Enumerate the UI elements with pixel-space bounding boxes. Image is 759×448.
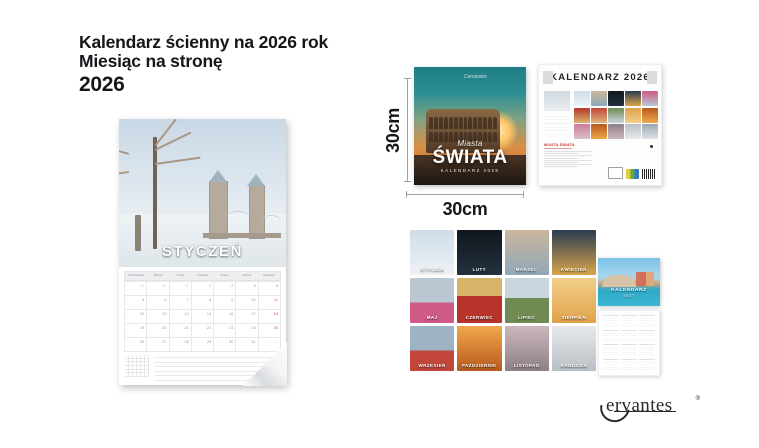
day-cell: 25 [259, 324, 281, 338]
month-card[interactable]: CZERWIEC [457, 278, 501, 323]
height-dimension: 30cm [383, 78, 404, 182]
back-panel-header: KALENDARZ 2026 [539, 71, 661, 84]
cervantes-logo: ervantes ® [592, 392, 716, 424]
month-card-label: MARZEC [505, 267, 549, 272]
tower-roof [209, 170, 227, 182]
punch-hole-icon [650, 145, 653, 148]
width-label: 30cm [406, 199, 524, 220]
weekday-label: Wtorek [147, 272, 169, 280]
height-ruler [407, 78, 408, 182]
next-year-year: 2027 [598, 293, 660, 298]
back-panel-sample-page [544, 91, 570, 137]
rialto-bridge [602, 275, 636, 287]
day-cells: 29 30 31 1 2 3 4 5 6 7 8 9 10 11 12 13 1… [124, 281, 281, 352]
tower-bridge [203, 171, 281, 237]
day-cell: 23 [214, 324, 236, 338]
month-card[interactable]: GRUDZIEŃ [552, 326, 596, 371]
day-cell: 2 [214, 282, 236, 296]
year-overview-page [598, 310, 660, 376]
month-card-label: MAJ [410, 315, 454, 320]
day-cell: 24 [236, 324, 258, 338]
month-card-label: KWIECIEŃ [552, 267, 596, 272]
january-photo: STYCZEŃ [119, 119, 286, 267]
month-card-label: GRUDZIEŃ [552, 363, 596, 368]
info-underline [544, 148, 572, 149]
height-label: 30cm [383, 108, 404, 153]
back-panel-thumbnails [574, 91, 658, 139]
colosseum-arches-upper [429, 117, 497, 129]
logo-underline [614, 411, 676, 412]
mini-month-grid [125, 355, 149, 377]
headline-line-2: Miesiąc na stronę [79, 52, 399, 71]
product-page: Kalendarz ścienny na 2026 rok Miesiąc na… [0, 0, 759, 448]
month-thumbnail-grid: STYCZEŃ LUTY MARZEC KWIECIEŃ MAJ CZERWIE… [410, 230, 596, 371]
month-card-label: LIPIEC [505, 315, 549, 320]
month-card[interactable]: MARZEC [505, 230, 549, 275]
day-cell: 30 [147, 282, 169, 296]
bridge-tower [249, 185, 265, 239]
month-card[interactable]: LUTY [457, 230, 501, 275]
day-cell: 13 [147, 310, 169, 324]
day-cell: 10 [236, 296, 258, 310]
day-cell: 7 [170, 296, 192, 310]
next-year-title: KALENDARZ [598, 287, 660, 292]
month-card-label: CZERWIEC [457, 315, 501, 320]
month-card[interactable]: KWIECIEŃ [552, 230, 596, 275]
headline-year: 2026 [79, 72, 399, 97]
day-cell: 22 [192, 324, 214, 338]
day-cell: 31 [170, 282, 192, 296]
tower-roof [247, 174, 265, 186]
day-cell: 28 [170, 338, 192, 352]
page-title: Kalendarz ścienny na 2026 rok Miesiąc na… [79, 33, 399, 97]
day-cell: 5 [125, 296, 147, 310]
day-cell: 21 [170, 324, 192, 338]
day-cell: 29 [125, 282, 147, 296]
month-card-label: PAŹDZIERNIK [457, 363, 501, 368]
cover-subtitle: KALENDARZ 2026 [414, 168, 526, 173]
weekday-label: Środa [169, 272, 191, 280]
day-cell: 1 [192, 282, 214, 296]
hanger-tab-left [543, 71, 553, 84]
month-card-label: SIERPIEŃ [552, 315, 596, 320]
day-cell: 29 [192, 338, 214, 352]
headline-line-1: Kalendarz ścienny na 2026 rok [79, 33, 399, 52]
day-cell: 9 [214, 296, 236, 310]
month-card[interactable]: WRZESIEŃ [410, 326, 454, 371]
month-card[interactable]: LISTOPAD [505, 326, 549, 371]
weekday-label: Sobota [236, 272, 258, 280]
barcode-icon [642, 169, 656, 179]
next-year-cover: KALENDARZ 2027 [598, 258, 660, 306]
day-cell: 18 [259, 310, 281, 324]
bridge-cable [261, 215, 281, 228]
recycling-icon [626, 169, 639, 179]
day-cell: 16 [214, 310, 236, 324]
day-cell: 3 [236, 282, 258, 296]
building [646, 272, 654, 286]
weekday-label: Niedziela [258, 272, 280, 280]
main-calendar-mockup: STYCZEŃ Poniedziałek Wtorek Środa Czwart… [119, 119, 286, 385]
month-card-label: LISTOPAD [505, 363, 549, 368]
logo-registered-mark: ® [696, 396, 700, 402]
day-cell: 19 [125, 324, 147, 338]
day-cell: 8 [192, 296, 214, 310]
cover-mockup: Cervantes Miasta ŚWIATA KALENDARZ 2026 [414, 67, 526, 185]
month-card[interactable]: LIPIEC [505, 278, 549, 323]
width-ruler [406, 194, 524, 195]
weekday-header-row: Poniedziałek Wtorek Środa Czwartek Piąte… [124, 271, 281, 281]
day-cell: 27 [147, 338, 169, 352]
month-card[interactable]: SIERPIEŃ [552, 278, 596, 323]
logo-name: ervantes [606, 395, 673, 417]
back-panel-mockup: KALENDARZ 2026 MIASTA ŚWIATA [538, 64, 662, 186]
day-cell: 30 [214, 338, 236, 352]
bridge-tower [209, 181, 228, 239]
back-panel-icons [608, 167, 656, 179]
day-cell: 26 [125, 338, 147, 352]
day-cell: 4 [259, 282, 281, 296]
fsc-icon [608, 167, 623, 179]
month-card-label: LUTY [457, 267, 501, 272]
tree-trunk [153, 137, 157, 249]
bridge-deck [203, 233, 281, 238]
hanger-tab-right [647, 71, 657, 84]
back-panel-info: MIASTA ŚWIATA [544, 143, 600, 169]
day-cell: 12 [125, 310, 147, 324]
day-cell: 6 [147, 296, 169, 310]
day-cell: 17 [236, 310, 258, 324]
sample-photo [544, 91, 570, 111]
bridge-cable [225, 211, 251, 226]
day-cell: 20 [147, 324, 169, 338]
width-dimension: 30cm [406, 194, 524, 220]
sample-grid [544, 113, 570, 135]
info-heading: MIASTA ŚWIATA [544, 143, 600, 147]
weekday-label: Poniedziałek [125, 272, 147, 280]
month-card-label: STYCZEŃ [410, 267, 454, 272]
month-card[interactable]: MAJ [410, 278, 454, 323]
month-card[interactable]: PAŹDZIERNIK [457, 326, 501, 371]
month-card-label: WRZESIEŃ [410, 363, 454, 368]
month-card[interactable]: STYCZEŃ [410, 230, 454, 275]
back-panel-title: KALENDARZ 2026 [550, 72, 650, 83]
month-title: STYCZEŃ [119, 243, 286, 260]
weekday-label: Piątek [214, 272, 236, 280]
day-cell: 15 [192, 310, 214, 324]
weekday-label: Czwartek [191, 272, 213, 280]
day-cell: 31 [236, 338, 258, 352]
cover-title-big: ŚWIATA [414, 147, 526, 169]
building [636, 272, 646, 286]
day-cell: 11 [259, 296, 281, 310]
day-cell: 1 [259, 338, 281, 352]
day-cell: 14 [170, 310, 192, 324]
cover-signature: Cervantes [464, 74, 487, 80]
